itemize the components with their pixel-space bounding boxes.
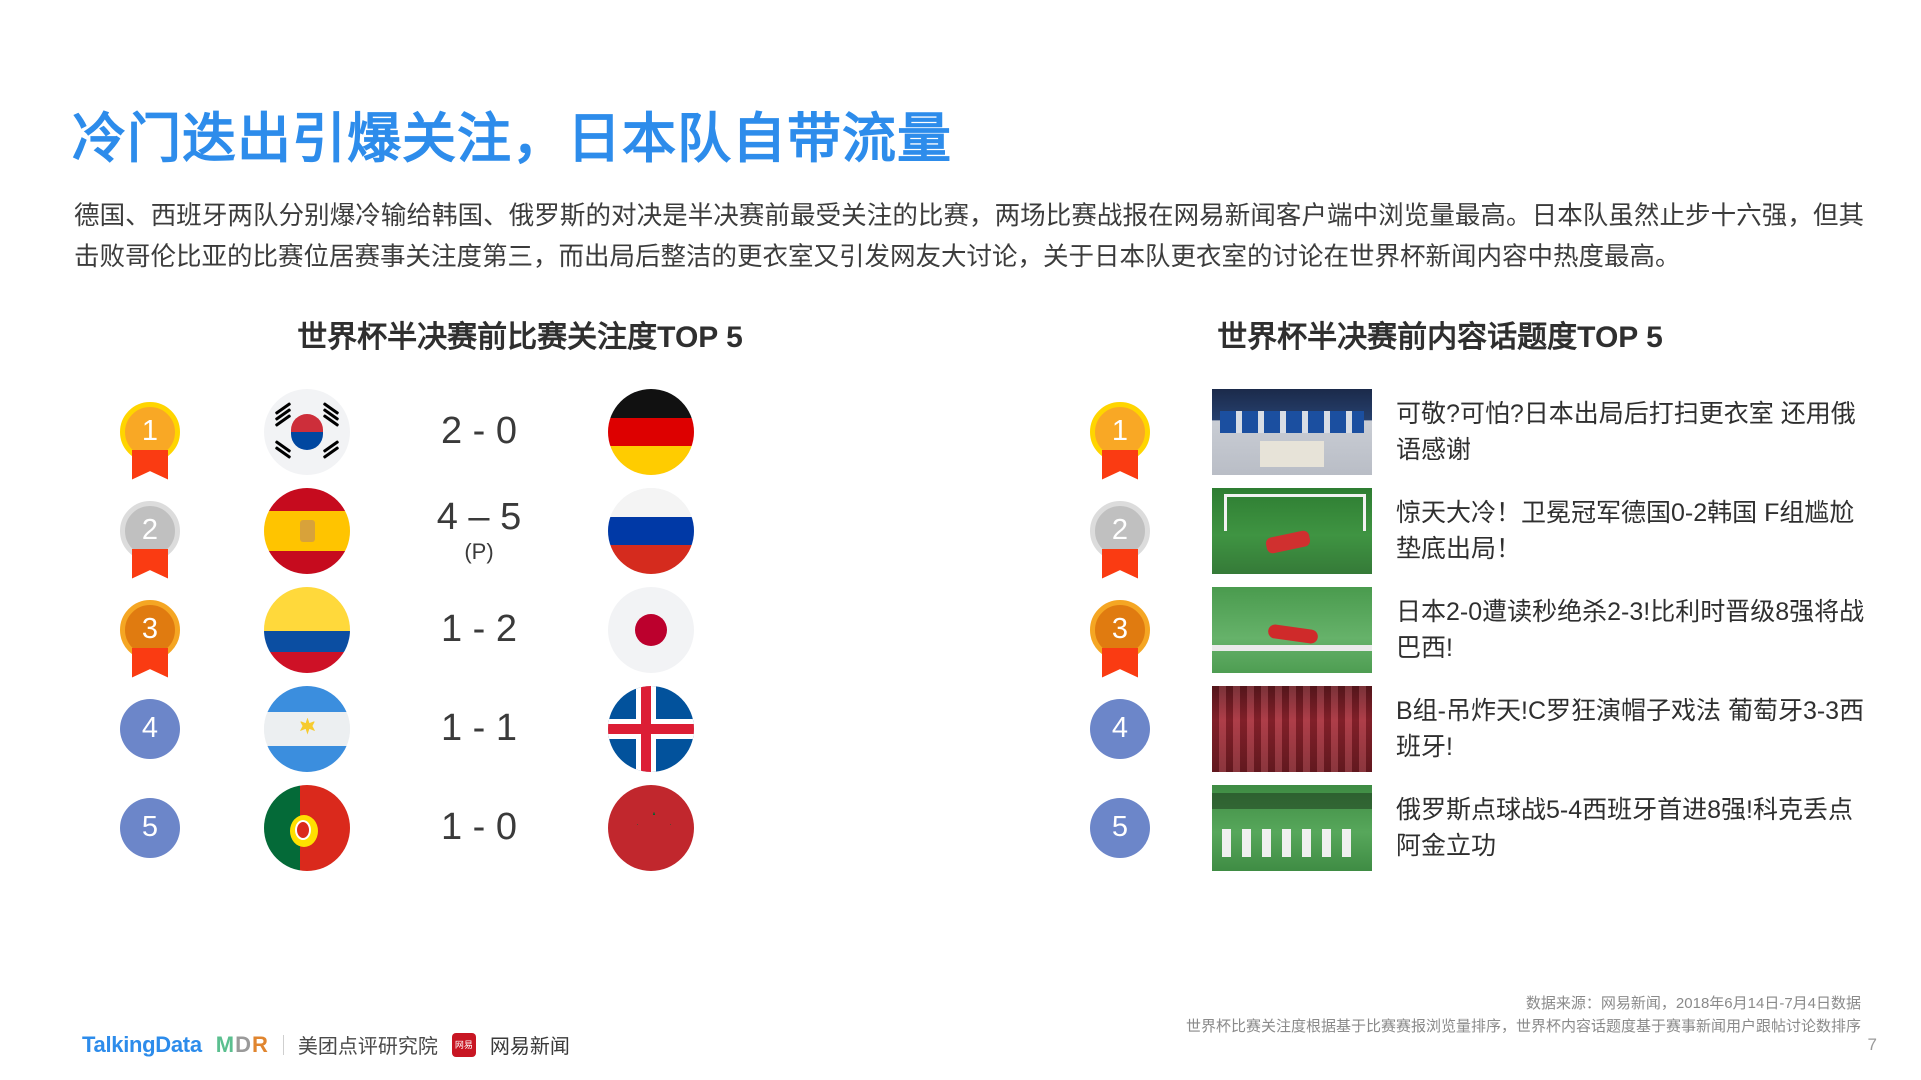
rank-number: 4 (120, 699, 180, 759)
penalty-note: (P) (374, 540, 584, 563)
topic-headline: B组-吊炸天!C罗狂演帽子戏法 葡萄牙3-3西班牙! (1396, 693, 1866, 765)
match-row: 3 1 - 2 (120, 580, 840, 679)
source-note: 数据来源：网易新闻，2018年6月14日-7月4日数据 世界杯比赛关注度根据基于… (1186, 992, 1861, 1038)
score-value: 1 - 2 (441, 608, 517, 650)
logo-bar: TalkingData MDR 美团点评研究院 网易 网易新闻 (82, 1030, 570, 1059)
page-number: 7 (1868, 1035, 1877, 1055)
mdr-letter-m: M (216, 1032, 235, 1057)
flag-russia-icon (608, 488, 694, 574)
meituan-research-label: 美团点评研究院 (298, 1030, 438, 1059)
match-score: 1 - 2 (374, 610, 584, 650)
rank-badge-5: 5 (120, 798, 180, 858)
right-panel-heading: 世界杯半决赛前内容话题度TOP 5 (1000, 312, 1880, 356)
netease-news-label: 网易新闻 (490, 1030, 570, 1059)
rank-badge-3: 3 (120, 600, 180, 660)
rank-number: 5 (1090, 798, 1150, 858)
flag-morocco-icon (608, 785, 694, 871)
list-item: 4 B组-吊炸天!C罗狂演帽子戏法 葡萄牙3-3西班牙! (1090, 679, 1890, 778)
topic-headline: 惊天大冷！卫冕冠军德国0-2韩国 F组尴尬垫底出局！ (1396, 495, 1866, 567)
ribbon-icon (132, 549, 168, 579)
match-row: 2 4 – 5 (P) (120, 481, 840, 580)
match-score: 1 - 0 (374, 808, 584, 848)
ribbon-icon (1102, 549, 1138, 579)
ribbon-icon (132, 450, 168, 480)
topic-headline: 日本2-0遭读秒绝杀2-3!比利时晋级8强将战巴西! (1396, 594, 1866, 666)
flag-spain-icon (264, 488, 350, 574)
flag-argentina-icon (264, 686, 350, 772)
left-panel-heading: 世界杯半决赛前比赛关注度TOP 5 (210, 312, 830, 356)
rank-badge-4: 4 (1090, 699, 1150, 759)
source-line-2: 世界杯比赛关注度根据基于比赛赛报浏览量排序，世界杯内容话题度基于赛事新闻用户跟帖… (1186, 1015, 1861, 1038)
list-item: 3 日本2-0遭读秒绝杀2-3!比利时晋级8强将战巴西! (1090, 580, 1890, 679)
flag-iceland-icon (608, 686, 694, 772)
rank-badge-1: 1 (1090, 402, 1150, 462)
match-score: 1 - 1 (374, 709, 584, 749)
rank-badge-3: 3 (1090, 600, 1150, 660)
score-value: 4 – 5 (437, 496, 522, 538)
netease-mark-icon: 网易 (452, 1033, 476, 1057)
flag-portugal-icon (264, 785, 350, 871)
match-attention-list: 1 2 - 0 (120, 382, 840, 877)
topic-headline: 俄罗斯点球战5-4西班牙首进8强!科克丢点阿金立功 (1396, 792, 1866, 864)
ribbon-icon (1102, 450, 1138, 480)
thumbnail-image (1212, 389, 1372, 475)
rank-number: 5 (120, 798, 180, 858)
lead-paragraph: 德国、西班牙两队分别爆冷输给韩国、俄罗斯的对决是半决赛前最受关注的比赛，两场比赛… (74, 196, 1864, 278)
mdr-logo: MDR (216, 1032, 269, 1058)
match-score: 4 – 5 (P) (374, 498, 584, 563)
page-title: 冷门迭出引爆关注，日本队自带流量 (72, 94, 952, 173)
slide-page: 冷门迭出引爆关注，日本队自带流量 德国、西班牙两队分别爆冷输给韩国、俄罗斯的对决… (0, 0, 1921, 1080)
topic-headline: 可敬?可怕?日本出局后打扫更衣室 还用俄语感谢 (1396, 396, 1866, 468)
list-item: 2 惊天大冷！卫冕冠军德国0-2韩国 F组尴尬垫底出局！ (1090, 481, 1890, 580)
flag-germany-icon (608, 389, 694, 475)
logo-divider (283, 1035, 284, 1055)
ribbon-icon (132, 648, 168, 678)
source-line-1: 数据来源：网易新闻，2018年6月14日-7月4日数据 (1186, 992, 1861, 1015)
flag-colombia-icon (264, 587, 350, 673)
thumbnail-image (1212, 488, 1372, 574)
rank-badge-5: 5 (1090, 798, 1150, 858)
content-topic-list: 1 可敬?可怕?日本出局后打扫更衣室 还用俄语感谢 2 惊天大冷！卫冕冠军德国0… (1090, 382, 1890, 877)
match-row: 5 1 - 0 (120, 778, 840, 877)
rank-number: 4 (1090, 699, 1150, 759)
mdr-letter-r: R (252, 1032, 269, 1057)
flag-korea-icon (264, 389, 350, 475)
flag-japan-icon (608, 587, 694, 673)
thumbnail-image (1212, 686, 1372, 772)
rank-badge-2: 2 (1090, 501, 1150, 561)
score-value: 2 - 0 (441, 410, 517, 452)
score-value: 1 - 1 (441, 707, 517, 749)
rank-badge-4: 4 (120, 699, 180, 759)
mdr-letter-d: D (235, 1032, 252, 1057)
talkingdata-logo: TalkingData (82, 1032, 202, 1058)
list-item: 1 可敬?可怕?日本出局后打扫更衣室 还用俄语感谢 (1090, 382, 1890, 481)
rank-badge-2: 2 (120, 501, 180, 561)
rank-badge-1: 1 (120, 402, 180, 462)
match-row: 1 2 - 0 (120, 382, 840, 481)
thumbnail-image (1212, 785, 1372, 871)
ribbon-icon (1102, 648, 1138, 678)
match-score: 2 - 0 (374, 412, 584, 452)
match-row: 4 1 - 1 (120, 679, 840, 778)
score-value: 1 - 0 (441, 806, 517, 848)
list-item: 5 俄罗斯点球战5-4西班牙首进8强!科克丢点阿金立功 (1090, 778, 1890, 877)
thumbnail-image (1212, 587, 1372, 673)
